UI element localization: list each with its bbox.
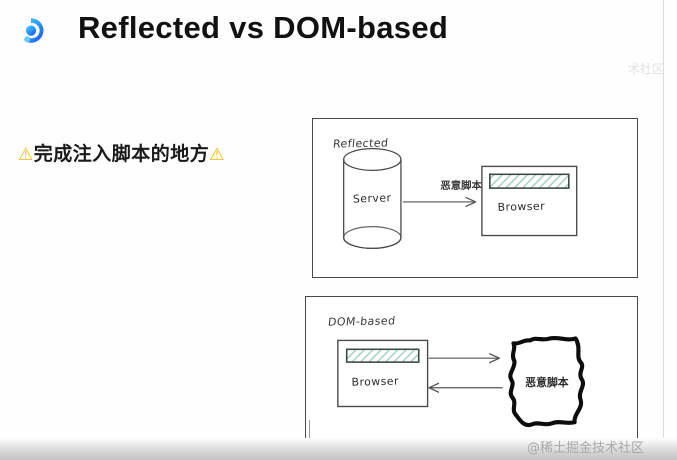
- dom-based-diagram-svg: Browser 恶意脚本: [306, 297, 637, 443]
- reflected-diagram-svg: Server 恶意脚本 Browser: [313, 119, 637, 277]
- frame-divider-right: [663, 0, 664, 460]
- page-title: Reflected vs DOM-based: [78, 10, 448, 46]
- script-bar-icon: [490, 174, 569, 188]
- diagram-panel-dom-based: DOM-based Browser 恶意脚本: [305, 296, 638, 444]
- browser-node-label: Browser: [497, 200, 545, 214]
- watermark-faint: 术社区: [628, 60, 664, 77]
- browser-node-label: Browser: [351, 375, 399, 389]
- juejin-logo-icon: [16, 16, 46, 46]
- diagram-panel-reflected: Reflected Server 恶意脚本: [312, 118, 638, 278]
- annotation-note: ⚠完成注入脚本的地方⚠: [18, 139, 225, 166]
- blob-node-label: 恶意脚本: [525, 375, 569, 389]
- reflected-edge-label: 恶意脚本: [440, 179, 482, 192]
- slide-header: Reflected vs DOM-based: [0, 0, 677, 60]
- server-node-label: Server: [353, 191, 392, 205]
- warning-icon-left: ⚠: [18, 145, 34, 165]
- bottom-gradient-band: [0, 438, 677, 460]
- slide-canvas: Reflected vs DOM-based ⚠完成注入脚本的地方⚠ Refle…: [0, 0, 677, 460]
- annotation-text: 完成注入脚本的地方: [34, 143, 210, 165]
- script-bar-icon: [347, 349, 419, 362]
- warning-icon-right: ⚠: [209, 145, 225, 165]
